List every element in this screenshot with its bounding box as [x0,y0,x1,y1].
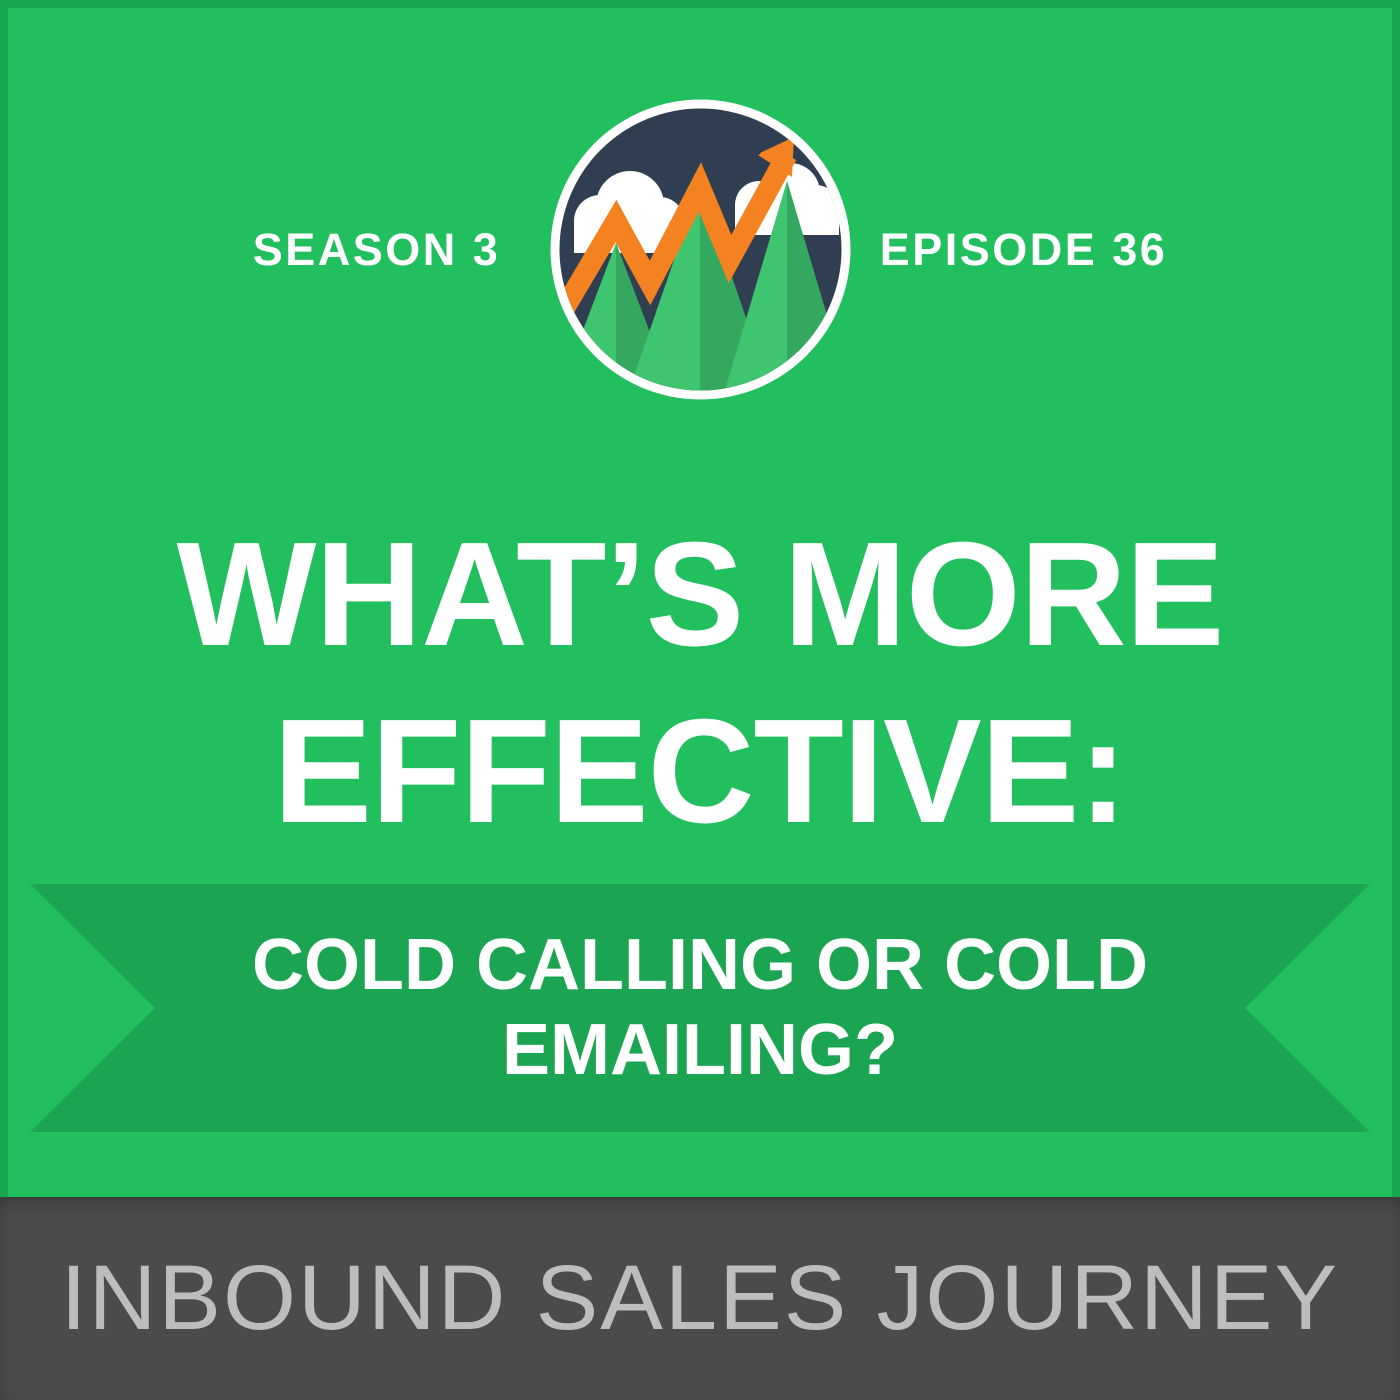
episode-label: EPISODE 36 [879,224,1169,276]
brand-bar: INBOUND SALES JOURNEY [0,1197,1400,1400]
podcast-brand-name: INBOUND SALES JOURNEY [61,1246,1340,1351]
episode-title: WHAT’S MORE EFFECTIVE: [0,520,1400,848]
podcast-logo [544,93,857,406]
subtitle-ribbon [30,884,1370,1132]
title-line-2: EFFECTIVE: [0,697,1400,848]
title-line-1: WHAT’S MORE [0,520,1400,671]
header-row: SEASON 3 [0,92,1400,407]
mountain-growth-arrow-icon [544,93,857,406]
season-label: SEASON 3 [232,224,522,276]
podcast-cover-art: SEASON 3 [0,0,1400,1400]
